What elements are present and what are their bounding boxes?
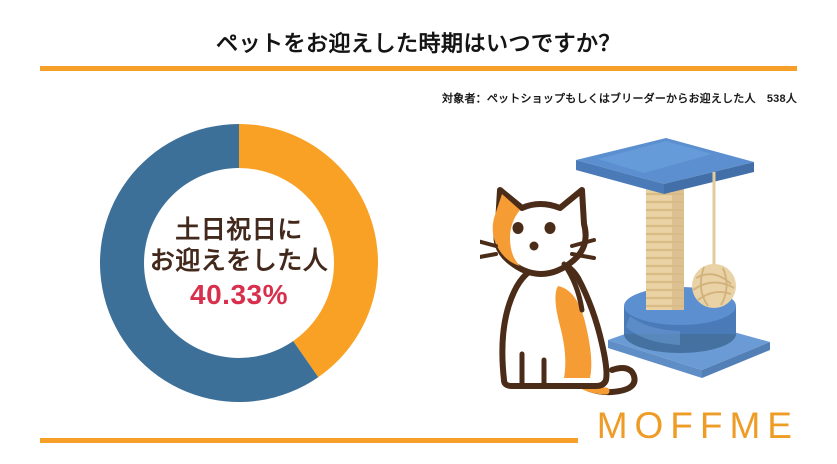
cat-eye-right bbox=[545, 222, 556, 234]
survey-respondent-note: 対象者：ペットショップもしくはブリーダーからお迎えした人 538人 bbox=[442, 90, 797, 106]
cat-icon bbox=[480, 190, 635, 392]
divider-bottom bbox=[40, 438, 578, 443]
illustration-svg bbox=[480, 128, 780, 408]
page-title: ペットをお迎えした時期はいつですか？ bbox=[0, 30, 837, 58]
infographic-canvas: ペットをお迎えした時期はいつですか？ 対象者：ペットショップもしくはブリーダーか… bbox=[0, 0, 837, 464]
donut-hole bbox=[144, 168, 334, 358]
donut-chart-svg bbox=[76, 100, 402, 426]
cat-and-cat-tree-illustration bbox=[480, 128, 780, 408]
moffme-logo[interactable]: MOFFME bbox=[597, 405, 799, 447]
cat-eye-left bbox=[513, 222, 524, 234]
hanging-yarn-ball-icon bbox=[692, 172, 736, 308]
divider-top bbox=[40, 66, 797, 71]
donut-chart: 土日祝日に お迎えをした人 40.33% bbox=[76, 100, 402, 426]
cat-tree-icon bbox=[576, 138, 770, 378]
cat-nose bbox=[530, 242, 539, 251]
